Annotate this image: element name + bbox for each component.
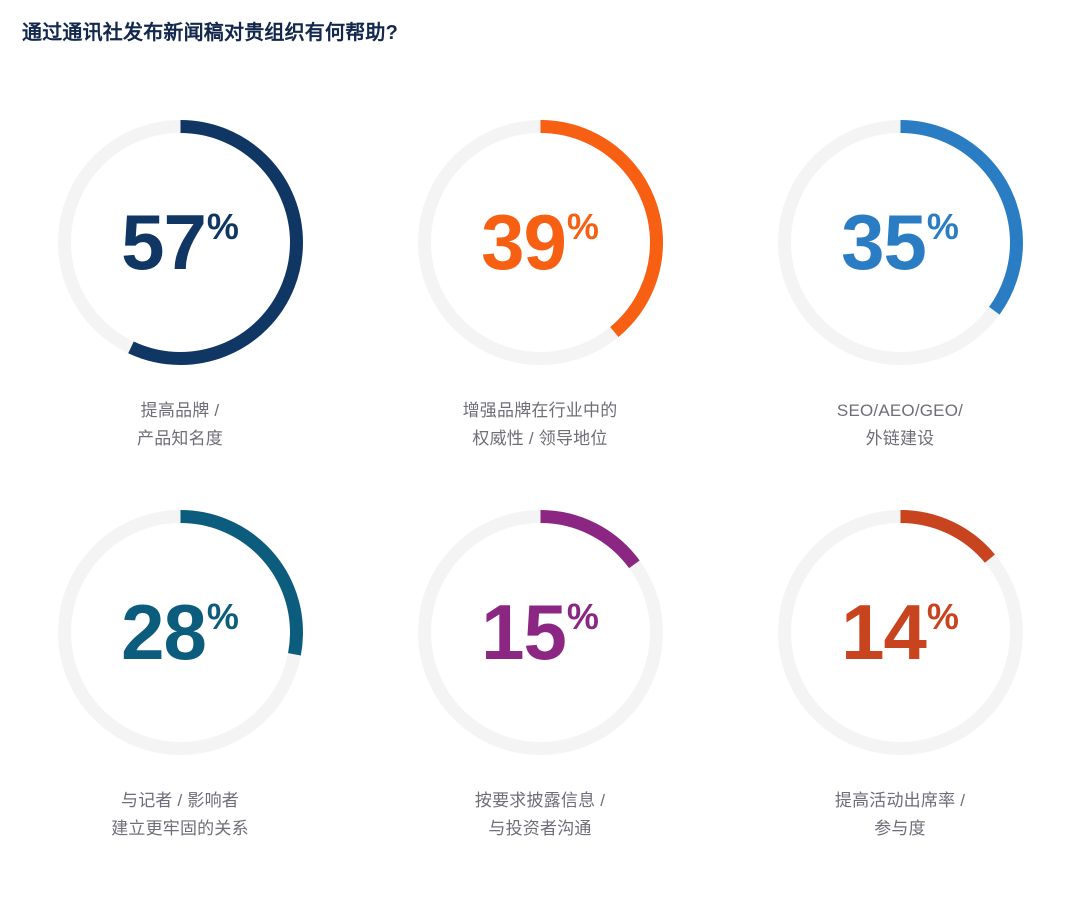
caption-line-2: 外链建设	[837, 425, 963, 453]
donut-svg-4	[408, 500, 673, 765]
donut-caption-4: 按要求披露信息 / 与投资者沟通	[475, 787, 605, 842]
stat-cell-4: 15 % 按要求披露信息 / 与投资者沟通	[360, 500, 720, 890]
donut-caption-2: SEO/AEO/GEO/ 外链建设	[837, 397, 963, 452]
donut-svg-5	[768, 500, 1033, 765]
donut-svg-0	[48, 110, 313, 375]
caption-line-1: 按要求披露信息 /	[475, 787, 605, 815]
stat-cell-5: 14 % 提高活动出席率 / 参与度	[720, 500, 1080, 890]
caption-line-2: 参与度	[835, 815, 965, 843]
donut-chart-3: 28 %	[48, 500, 313, 765]
donut-caption-5: 提高活动出席率 / 参与度	[835, 787, 965, 842]
stat-cell-3: 28 % 与记者 / 影响者 建立更牢固的关系	[0, 500, 360, 890]
caption-line-1: SEO/AEO/GEO/	[837, 397, 963, 425]
caption-line-1: 与记者 / 影响者	[111, 787, 249, 815]
caption-line-1: 提高品牌 /	[137, 397, 223, 425]
donut-caption-0: 提高品牌 / 产品知名度	[137, 397, 223, 452]
caption-line-1: 增强品牌在行业中的	[463, 397, 618, 425]
donut-chart-1: 39 %	[408, 110, 673, 375]
page-title: 通过通讯社发布新闻稿对贵组织有何帮助?	[22, 20, 398, 46]
donut-svg-3	[48, 500, 313, 765]
caption-line-2: 产品知名度	[137, 425, 223, 453]
caption-line-1: 提高活动出席率 /	[835, 787, 965, 815]
infographic-page: 通过通讯社发布新闻稿对贵组织有何帮助? 57 % 提高品牌 / 产品知名度	[0, 0, 1080, 904]
donut-grid: 57 % 提高品牌 / 产品知名度 39 %	[0, 110, 1080, 890]
stat-cell-1: 39 % 增强品牌在行业中的 权威性 / 领导地位	[360, 110, 720, 500]
donut-caption-3: 与记者 / 影响者 建立更牢固的关系	[111, 787, 249, 842]
donut-chart-2: 35 %	[768, 110, 1033, 375]
caption-line-2: 权威性 / 领导地位	[463, 425, 618, 453]
caption-line-2: 建立更牢固的关系	[111, 815, 249, 843]
donut-chart-0: 57 %	[48, 110, 313, 375]
donut-caption-1: 增强品牌在行业中的 权威性 / 领导地位	[463, 397, 618, 452]
donut-chart-4: 15 %	[408, 500, 673, 765]
caption-line-2: 与投资者沟通	[475, 815, 605, 843]
stat-cell-2: 35 % SEO/AEO/GEO/ 外链建设	[720, 110, 1080, 500]
donut-svg-1	[408, 110, 673, 375]
stat-cell-0: 57 % 提高品牌 / 产品知名度	[0, 110, 360, 500]
donut-svg-2	[768, 110, 1033, 375]
donut-chart-5: 14 %	[768, 500, 1033, 765]
